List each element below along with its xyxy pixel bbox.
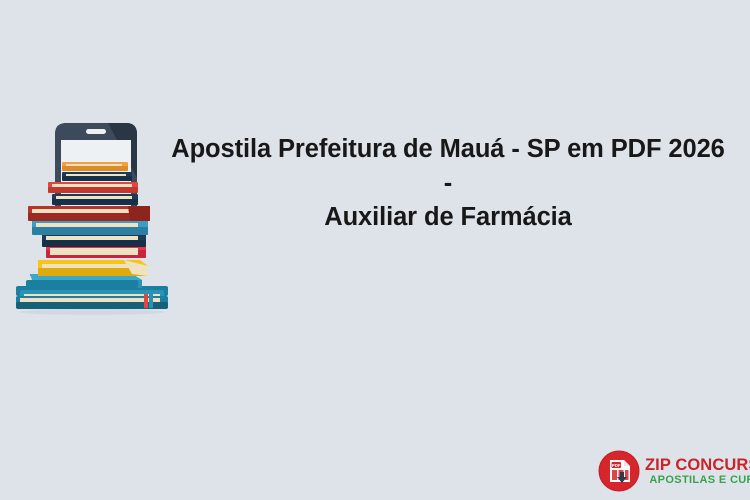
stack-of-books-and-tablet-illustration [8,118,183,318]
promo-banner: Apostila Prefeitura de Mauá - SP em PDF … [0,0,750,500]
page-title: Apostila Prefeitura de Mauá - SP em PDF … [168,132,728,234]
logo-tagline: APOSTILAS E CURSOS [645,474,750,487]
logo-title: ZIP CONCURSOS [645,456,750,474]
page-title-line-2: Auxiliar de Farmácia [168,200,728,234]
book-stack [16,162,168,309]
page-title-line-1: Apostila Prefeitura de Mauá - SP em PDF … [168,132,728,200]
svg-text:PDF: PDF [612,463,621,468]
pdf-download-icon: PDF [598,450,640,492]
brand-logo[interactable]: PDF ZIP CONCURSOS APOSTILAS E CURSOS [598,449,738,493]
logo-text-group: ZIP CONCURSOS APOSTILAS E CURSOS [645,456,750,487]
